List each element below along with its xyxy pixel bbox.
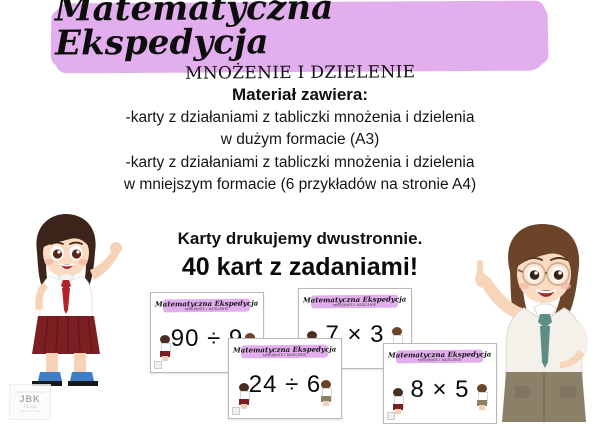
- page-subtitle: MNOŻENIE I DZIELENIE: [185, 64, 415, 82]
- card-mini-subtitle: MNOŻENIE I DZIELENIE: [185, 307, 229, 310]
- sample-card[interactable]: Matematyczna Ekspedycja MNOŻENIE I DZIEL…: [228, 338, 342, 419]
- material-heading: Materiał zawiera:: [0, 84, 600, 107]
- schoolgirl-illustration: [10, 206, 122, 388]
- header-banner-content: Matematyczna Ekspedycja MNOŻENIE I DZIEL…: [55, 1, 545, 74]
- card-mini-banner: Matematyczna Ekspedycja MNOŻENIE I DZIEL…: [241, 344, 328, 358]
- teacher-figure-icon: [319, 380, 333, 406]
- card-mini-banner: Matematyczna Ekspedycja MNOŻENIE I DZIEL…: [396, 349, 483, 363]
- card-mini-banner: Matematyczna Ekspedycja MNOŻENIE I DZIEL…: [163, 298, 250, 312]
- teacher-figure-icon: [475, 384, 489, 410]
- card-corner-mark: [387, 412, 395, 420]
- material-line: w mniejszym formacie (6 przykładów na st…: [0, 174, 600, 196]
- kid-figure-icon: [158, 335, 172, 361]
- material-line: -karty z działaniami z tabliczki mnożeni…: [0, 107, 600, 129]
- card-mini-subtitle: MNOŻENIE I DZIELENIE: [333, 303, 377, 306]
- page-title: Matematyczna Ekspedycja: [55, 0, 545, 60]
- material-line: -karty z działaniami z tabliczki mnożeni…: [0, 152, 600, 174]
- poster-canvas: Matematyczna Ekspedycja MNOŻENIE I DZIEL…: [0, 0, 600, 424]
- watermark-logo-text: JBK: [19, 394, 40, 404]
- kid-figure-icon: [237, 383, 251, 409]
- material-line: w dużym formacie (A3): [0, 129, 600, 151]
- kid-figure-icon: [391, 388, 405, 414]
- card-mini-subtitle: MNOŻENIE I DZIELENIE: [418, 358, 462, 361]
- card-corner-mark: [232, 407, 240, 415]
- card-corner-mark: [154, 361, 162, 369]
- watermark-bottom-text: MATEMATYKA: [20, 410, 40, 413]
- sample-card[interactable]: Matematyczna Ekspedycja MNOŻENIE I DZIEL…: [383, 343, 497, 424]
- material-description: Materiał zawiera: -karty z działaniami z…: [0, 84, 600, 197]
- card-mini-banner: Matematyczna Ekspedycja MNOŻENIE I DZIEL…: [311, 294, 398, 308]
- publisher-watermark: ZESZYTY DO NAUKI JBK Pasja MATEMATYKA: [9, 384, 51, 420]
- card-mini-subtitle: MNOŻENIE I DZIELENIE: [263, 353, 307, 356]
- header-banner: Matematyczna Ekspedycja MNOŻENIE I DZIEL…: [55, 1, 545, 74]
